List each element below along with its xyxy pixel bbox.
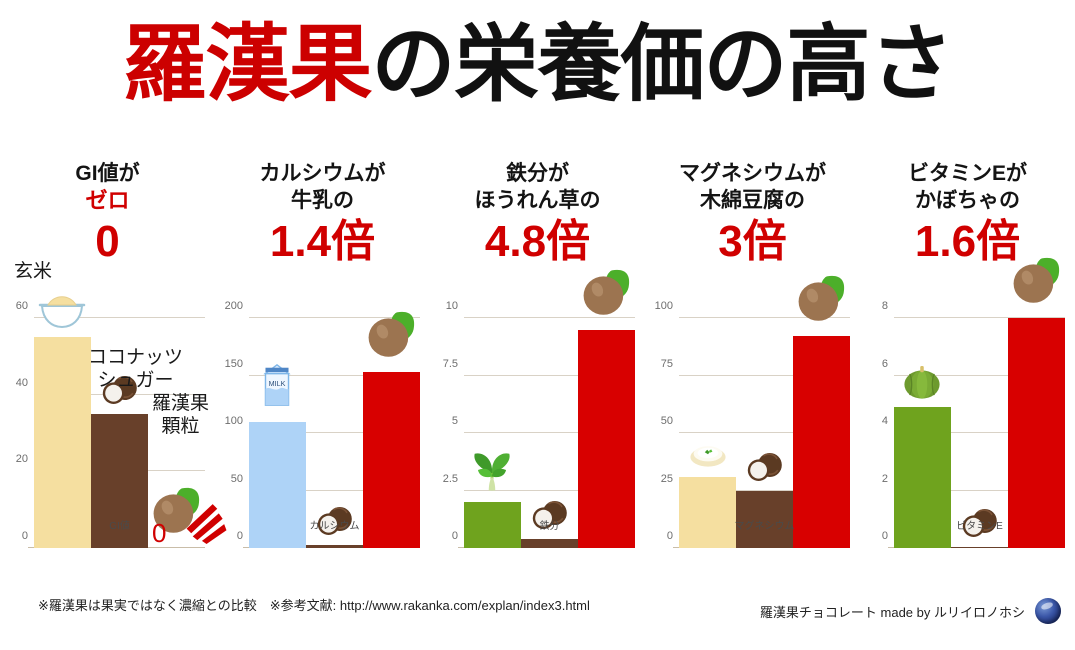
y-axis-tick: 25 bbox=[661, 473, 673, 485]
y-axis-tick: 40 bbox=[16, 377, 28, 389]
chart-calcium: 050100150200 MILK カルシウム bbox=[215, 318, 430, 548]
y-axis-tick: 0 bbox=[667, 530, 673, 542]
x-axis-label: GI値 bbox=[34, 517, 205, 532]
panel-head-line2: かぼちゃの bbox=[860, 187, 1075, 214]
spinach-icon bbox=[465, 442, 519, 498]
bar-slot bbox=[894, 318, 951, 548]
y-axis-tick: 200 bbox=[225, 300, 243, 312]
rakanka-fruit-icon bbox=[790, 268, 854, 328]
axis-area: 02.557.510 bbox=[464, 318, 635, 548]
panel-calcium: カルシウムが牛乳の1.4倍050100150200 MILK カ bbox=[215, 160, 430, 580]
panel-head-line1: 鉄分が bbox=[430, 160, 645, 187]
panel-row: GI値がゼロ00204060 GI値玄米ココナッツ シュガー羅漢果 顆粒0 bbox=[0, 160, 1075, 580]
y-axis-tick: 10 bbox=[446, 300, 458, 312]
panel-heading-gi: GI値がゼロ0 bbox=[0, 160, 215, 267]
axis-area: 02468 bbox=[894, 318, 1065, 548]
x-axis-label: マグネシウム bbox=[679, 517, 850, 532]
panel-head-line1: ビタミンEが bbox=[860, 160, 1075, 187]
panel-heading-iron: 鉄分がほうれん草の4.8倍 bbox=[430, 160, 645, 267]
y-axis-tick: 6 bbox=[882, 358, 888, 370]
y-axis-tick: 60 bbox=[16, 300, 28, 312]
coconut-icon bbox=[743, 447, 787, 487]
y-axis-tick: 4 bbox=[882, 415, 888, 427]
footer-note: ※羅漢果は果実ではなく濃縮との比較 ※参考文献: http://www.raka… bbox=[38, 595, 590, 614]
panel-head-line2: 木綿豆腐の bbox=[645, 187, 860, 214]
panel-head-line1: マグネシウムが bbox=[645, 160, 860, 187]
chart-vitamin-e: 02468 ビタミンE bbox=[860, 318, 1075, 548]
bar-slot bbox=[1008, 318, 1065, 548]
x-axis-label: ビタミンE bbox=[894, 517, 1065, 532]
footer-credit-text: 羅漢果チョコレート made by ルリイロノホシ bbox=[760, 602, 1025, 621]
tofu-icon bbox=[678, 433, 738, 473]
bar-木綿豆腐 bbox=[679, 477, 736, 548]
y-axis-tick: 2.5 bbox=[443, 473, 458, 485]
y-axis-tick: 8 bbox=[882, 300, 888, 312]
y-axis-tick: 150 bbox=[225, 358, 243, 370]
y-axis-tick: 100 bbox=[655, 300, 673, 312]
rakanka-fruit-icon bbox=[360, 304, 424, 364]
axis-area: 050100150200 MILK bbox=[249, 318, 420, 548]
bar-ココナッツシュガー bbox=[521, 539, 578, 548]
y-axis-tick: 7.5 bbox=[443, 358, 458, 370]
panel-iron: 鉄分がほうれん草の4.8倍02.557.510 bbox=[430, 160, 645, 580]
y-axis-tick: 0 bbox=[452, 530, 458, 542]
panel-head-line1: カルシウムが bbox=[215, 160, 430, 187]
footer-credit: 羅漢果チョコレート made by ルリイロノホシ bbox=[760, 598, 1061, 624]
x-axis-label: カルシウム bbox=[249, 517, 420, 532]
bar-slot bbox=[736, 318, 793, 548]
x-axis-label: 鉄分 bbox=[464, 517, 635, 532]
y-axis-tick: 5 bbox=[452, 415, 458, 427]
rakanka-zero-value: 0 bbox=[152, 518, 166, 549]
y-axis-tick: 0 bbox=[22, 530, 28, 542]
panel-magnesium: マグネシウムが木綿豆腐の3倍0255075100 マグネシウム bbox=[645, 160, 860, 580]
chart-iron: 02.557.510 鉄分 bbox=[430, 318, 645, 548]
panel-head-line1: GI値が bbox=[0, 160, 215, 187]
axis-area: 0255075100 bbox=[679, 318, 850, 548]
panel-headline-value: 4.8倍 bbox=[430, 217, 645, 268]
bar-slot bbox=[793, 318, 850, 548]
page-title-rest: の栄養価の高さ bbox=[372, 17, 953, 111]
bar-slot bbox=[464, 318, 521, 548]
planet-logo-icon bbox=[1035, 598, 1061, 624]
page-title: 羅漢果の栄養価の高さ bbox=[0, 22, 1075, 106]
panel-gi: GI値がゼロ00204060 GI値玄米ココナッツ シュガー羅漢果 顆粒0 bbox=[0, 160, 215, 580]
rakanka-fruit-icon bbox=[575, 262, 639, 322]
bar-羅漢果顆粒 bbox=[578, 330, 635, 549]
pumpkin-icon bbox=[896, 359, 948, 403]
y-axis-tick: 50 bbox=[231, 473, 243, 485]
panel-headline-value: 1.4倍 bbox=[215, 217, 430, 268]
bar-ココナッツシュガー bbox=[951, 547, 1008, 548]
y-axis-tick: 0 bbox=[237, 530, 243, 542]
panel-head-line2: ゼロ bbox=[0, 187, 215, 215]
y-axis-tick: 20 bbox=[16, 453, 28, 465]
panel-heading-calcium: カルシウムが牛乳の1.4倍 bbox=[215, 160, 430, 267]
panel-headline-value: 3倍 bbox=[645, 217, 860, 268]
panel-head-line2: 牛乳の bbox=[215, 187, 430, 214]
bar-羅漢果顆粒 bbox=[1008, 318, 1065, 548]
milk-carton-icon: MILK bbox=[253, 352, 301, 418]
y-axis-tick: 0 bbox=[882, 530, 888, 542]
y-axis-tick: 2 bbox=[882, 473, 888, 485]
infographic-root: 羅漢果の栄養価の高さ GI値がゼロ00204060 GI値玄米ココナッツ シュ bbox=[0, 0, 1075, 650]
page-title-highlight: 羅漢果 bbox=[122, 17, 371, 111]
y-axis-tick: 75 bbox=[661, 358, 673, 370]
panel-heading-magnesium: マグネシウムが木綿豆腐の3倍 bbox=[645, 160, 860, 267]
rice-bowl-icon bbox=[34, 283, 90, 333]
bar-slot bbox=[34, 318, 91, 548]
coconut-sugar-label: ココナッツ シュガー bbox=[88, 346, 183, 392]
bar-ココナッツシュガー bbox=[306, 545, 363, 548]
chart-magnesium: 0255075100 マグネシウム bbox=[645, 318, 860, 548]
rakanka-label: 羅漢果 顆粒 bbox=[152, 392, 209, 438]
y-axis-tick: 100 bbox=[225, 415, 243, 427]
bar-slot bbox=[578, 318, 635, 548]
brown-rice-label: 玄米 bbox=[14, 260, 52, 283]
rakanka-fruit-icon bbox=[1005, 250, 1069, 310]
panel-vitamin-e: ビタミンEがかぼちゃの1.6倍02468 bbox=[860, 160, 1075, 580]
svg-text:MILK: MILK bbox=[269, 378, 286, 387]
y-axis-tick: 50 bbox=[661, 415, 673, 427]
panel-head-line2: ほうれん草の bbox=[430, 187, 645, 214]
